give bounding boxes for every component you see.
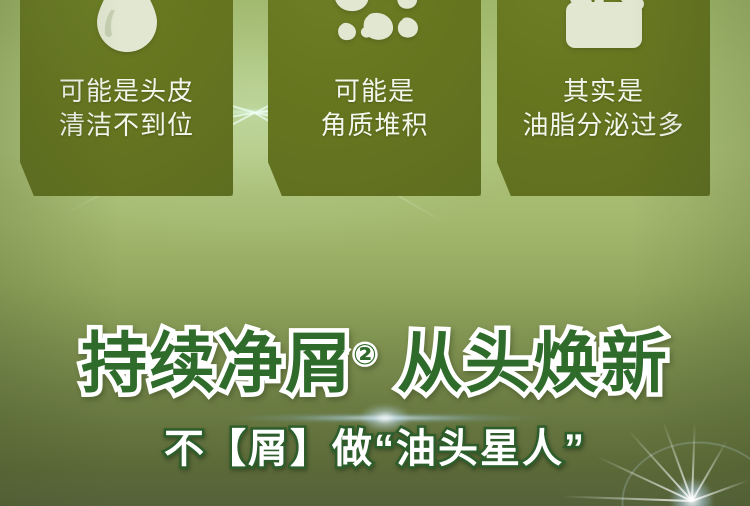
- hair-follicle-oil-icon: [552, 0, 656, 62]
- subtitle: 不【屑】做“油头星人”: [0, 429, 750, 469]
- cause-card-scalp-cleansing[interactable]: 可能是头皮 清洁不到位: [20, 0, 233, 196]
- water-droplet-icon: [75, 0, 179, 62]
- flare-ray: [562, 495, 692, 502]
- cause-card-text: 可能是头皮 清洁不到位: [59, 74, 194, 143]
- headline: 持续净屑②从头焕新: [0, 330, 750, 396]
- cause-card-text: 可能是 角质堆积: [320, 74, 428, 143]
- flare-bar: [220, 413, 550, 423]
- cause-card-line1: 可能是: [320, 74, 428, 108]
- flare-core: [670, 478, 714, 506]
- dandruff-flakes-icon: [323, 0, 427, 62]
- cause-card-excess-sebum[interactable]: 其实是 油脂分泌过多: [497, 0, 710, 196]
- cause-card-line1: 其实是: [522, 74, 684, 108]
- cause-card-keratin-buildup[interactable]: 可能是 角质堆积: [268, 0, 481, 196]
- cause-card-line2: 清洁不到位: [59, 108, 194, 142]
- cause-card-line2: 角质堆积: [320, 108, 428, 142]
- headline-footnote-marker: ②: [353, 339, 377, 370]
- cause-card-line1: 可能是头皮: [59, 74, 194, 108]
- promo-banner: 可能是头皮 清洁不到位: [0, 0, 750, 506]
- headline-part2: 从头焕新: [397, 326, 669, 400]
- headline-part1: 持续净屑: [81, 326, 353, 400]
- cause-card-line2: 油脂分泌过多: [522, 108, 684, 142]
- cause-card-row: 可能是头皮 清洁不到位: [0, 0, 750, 196]
- cause-card-text: 其实是 油脂分泌过多: [522, 74, 684, 143]
- flare-ray: [692, 480, 749, 502]
